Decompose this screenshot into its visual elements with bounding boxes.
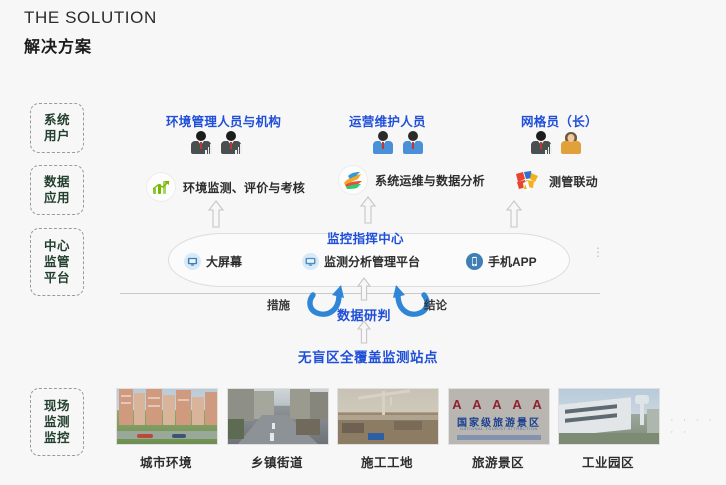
monitor-icon	[184, 253, 201, 270]
platform-label-0: 大屏幕	[206, 253, 242, 270]
user-group-label-grid-officers: 网格员（长）	[521, 111, 598, 130]
platform-item-analysis-management-platform[interactable]: 监测分析管理平台	[302, 253, 420, 270]
scene-art-industrial	[559, 389, 659, 444]
station-coverage-label: 无盲区全覆盖监测站点	[298, 346, 438, 366]
sidebar-label-0: 系统 用户	[44, 112, 70, 144]
scene-photo-construction-site[interactable]	[337, 388, 439, 445]
scene-art-urban	[117, 389, 217, 444]
cycle-label-conclusion: 结论	[424, 297, 447, 313]
scene-caption-town-street: 乡镇街道	[227, 452, 327, 471]
user-group-label-environment-managers: 环境管理人员与机构	[166, 111, 281, 130]
platform-item-big-screen[interactable]: 大屏幕	[184, 253, 242, 270]
scene-caption-construction-site: 施工工地	[337, 452, 437, 471]
desktop-icon	[302, 253, 319, 270]
application-environment-monitoring[interactable]: 环境监测、评价与考核	[146, 172, 305, 202]
sidebar-label-2: 中心 监管 平台	[44, 238, 70, 286]
scene-photo-town-street[interactable]	[227, 388, 329, 445]
user-group-label-operation-maintenance: 运营维护人员	[349, 111, 426, 130]
application-label-2: 测管联动	[549, 173, 598, 190]
cycle-label-measures: 措施	[267, 297, 290, 313]
two-person-blue-icon	[372, 131, 424, 155]
platform-label-2: 手机APP	[488, 253, 537, 270]
sidebar-label-1: 数据 应用	[44, 174, 70, 206]
sidebar-item-field-monitoring[interactable]: 现场 监测 监控	[30, 388, 84, 456]
page-title-cn: 解决方案	[24, 33, 92, 57]
application-label-1: 系统运维与数据分析	[375, 172, 485, 189]
cycle-up-arrow-top-icon	[357, 277, 371, 301]
scene-art-construction	[338, 389, 438, 444]
scene-caption-industrial-park: 工业园区	[558, 452, 658, 471]
sign-a-letters: A A A A A	[449, 397, 549, 412]
sidebar-item-central-platform[interactable]: 中心 监管 平台	[30, 228, 84, 296]
application-label-0: 环境监测、评价与考核	[183, 179, 305, 196]
platform-item-mobile-app[interactable]: 手机APP	[466, 253, 537, 270]
up-arrow-right-icon	[506, 200, 522, 228]
scenes-more-indicator: · · · · · ·	[670, 414, 726, 438]
phone-icon	[466, 253, 483, 270]
two-person-mixed-icon	[530, 131, 582, 155]
bar-chart-icon	[146, 172, 176, 202]
two-person-dark-icon	[190, 131, 242, 155]
sidebar-item-system-users[interactable]: 系统 用户	[30, 103, 84, 153]
cycle-label-data-analysis: 数据研判	[337, 305, 391, 324]
scene-photo-tourist-area[interactable]: A A A A A 国家级旅游景区 NATIONAL TOURIST ATTRA…	[448, 388, 550, 445]
scene-caption-urban-environment: 城市环境	[116, 452, 216, 471]
scene-art-street	[228, 389, 328, 444]
page-title-en: THE SOLUTION	[24, 8, 157, 28]
up-arrow-center-icon	[360, 196, 376, 224]
scene-photo-industrial-park[interactable]	[558, 388, 660, 445]
sidebar-label-3: 现场 监测 监控	[44, 398, 70, 446]
bird-analytics-icon	[338, 165, 368, 195]
sign-english-text: NATIONAL TOURIST ATTRACTION	[449, 426, 549, 431]
platform-more-indicator: ⋮	[592, 250, 604, 255]
slide-canvas: THE SOLUTION 解决方案 系统 用户 数据 应用 中心 监管 平台 现…	[0, 0, 726, 485]
application-monitor-management-linkage[interactable]: 测管联动	[512, 166, 598, 196]
scene-caption-tourist-area: 旅游景区	[448, 452, 548, 471]
scene-photo-urban-environment[interactable]	[116, 388, 218, 445]
application-system-ops-analysis[interactable]: 系统运维与数据分析	[338, 165, 485, 195]
platform-label-1: 监测分析管理平台	[324, 253, 420, 270]
scene-art-tourist-sign: A A A A A 国家级旅游景区 NATIONAL TOURIST ATTRA…	[449, 389, 549, 444]
sidebar-item-data-application[interactable]: 数据 应用	[30, 165, 84, 215]
up-arrow-left-icon	[208, 200, 224, 228]
multicolor-linkage-icon	[512, 166, 542, 196]
platform-title: 监控指挥中心	[327, 228, 404, 247]
